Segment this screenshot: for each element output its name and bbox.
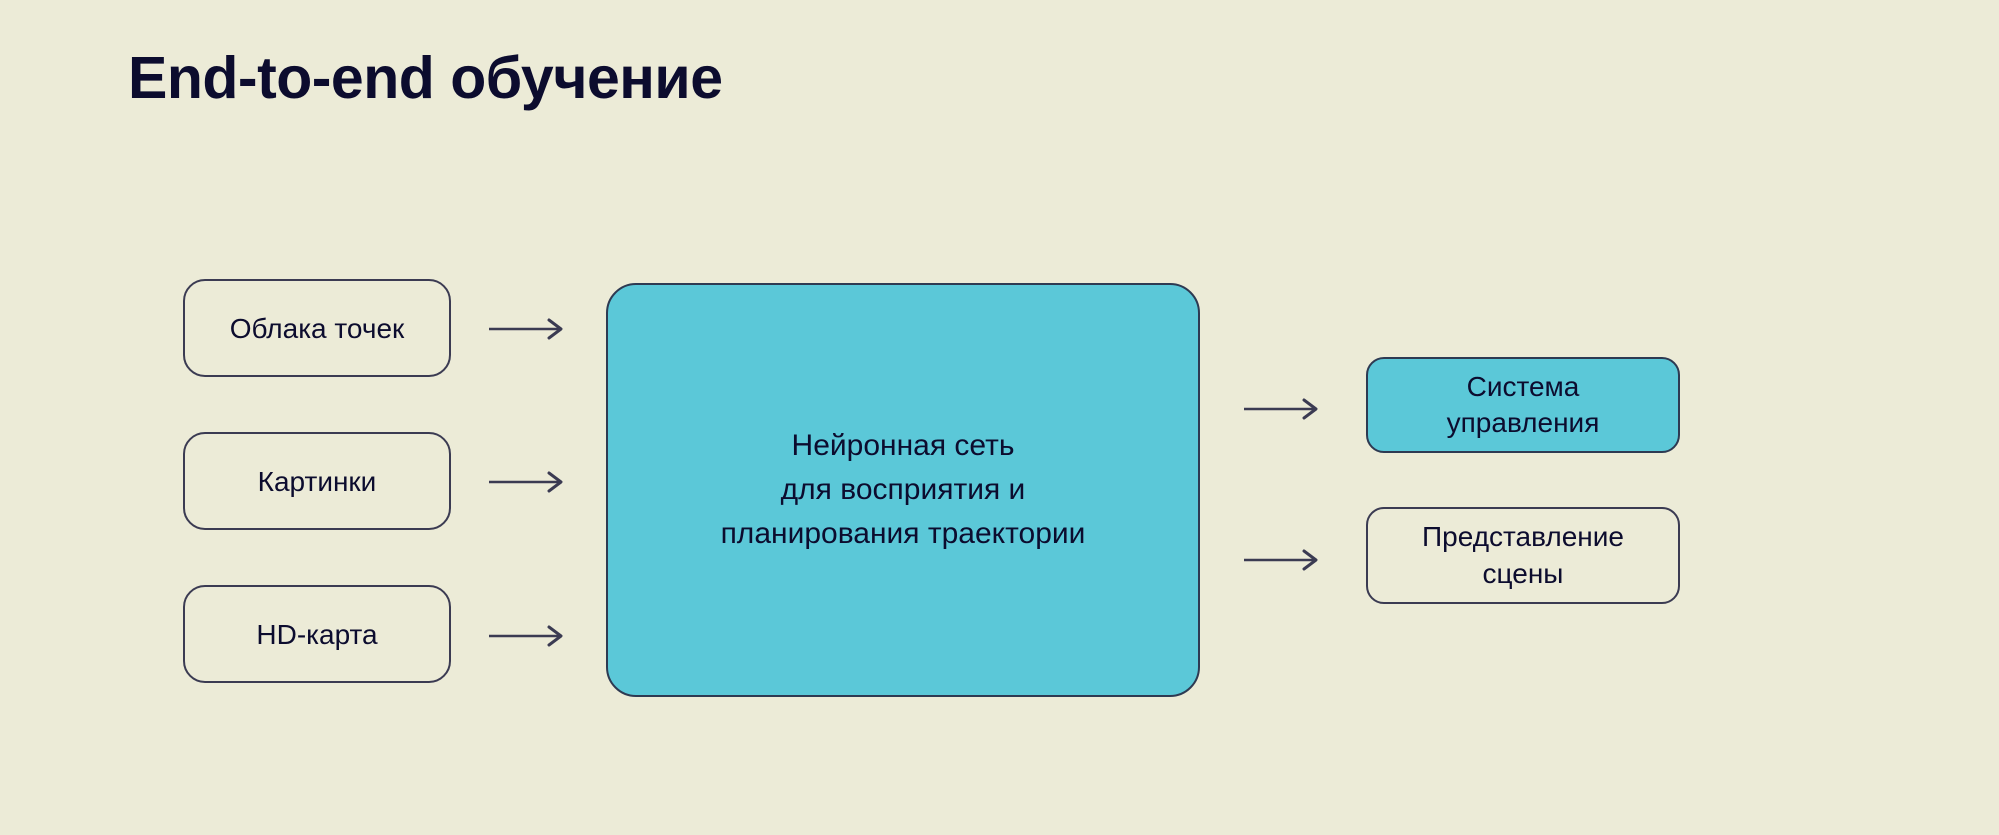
- arrow-hdmap-to-network-icon: [487, 622, 571, 650]
- input-node-hd-map-label: HD-карта: [185, 617, 449, 652]
- neural-network-node[interactable]: Нейронная сеть для восприятия и планиров…: [606, 283, 1200, 697]
- slide-canvas: End-to-end обучение Облака точек Картинк…: [0, 0, 1999, 835]
- arrow-pointclouds-to-network-icon: [487, 315, 571, 343]
- output-node-scene-representation[interactable]: Представление сцены: [1366, 507, 1680, 604]
- arrow-network-to-control-icon: [1242, 395, 1326, 423]
- output-node-scene-representation-label: Представление сцены: [1368, 519, 1678, 592]
- input-node-point-clouds-label: Облака точек: [185, 311, 449, 346]
- arrow-network-to-scene-icon: [1242, 546, 1326, 574]
- input-node-images-label: Картинки: [185, 464, 449, 499]
- page-title: End-to-end обучение: [128, 46, 723, 111]
- neural-network-node-label: Нейронная сеть для восприятия и планиров…: [608, 424, 1198, 556]
- input-node-images[interactable]: Картинки: [183, 432, 451, 530]
- output-node-control-system-label: Система управления: [1368, 369, 1678, 442]
- input-node-hd-map[interactable]: HD-карта: [183, 585, 451, 683]
- output-node-control-system[interactable]: Система управления: [1366, 357, 1680, 453]
- arrow-images-to-network-icon: [487, 468, 571, 496]
- input-node-point-clouds[interactable]: Облака точек: [183, 279, 451, 377]
